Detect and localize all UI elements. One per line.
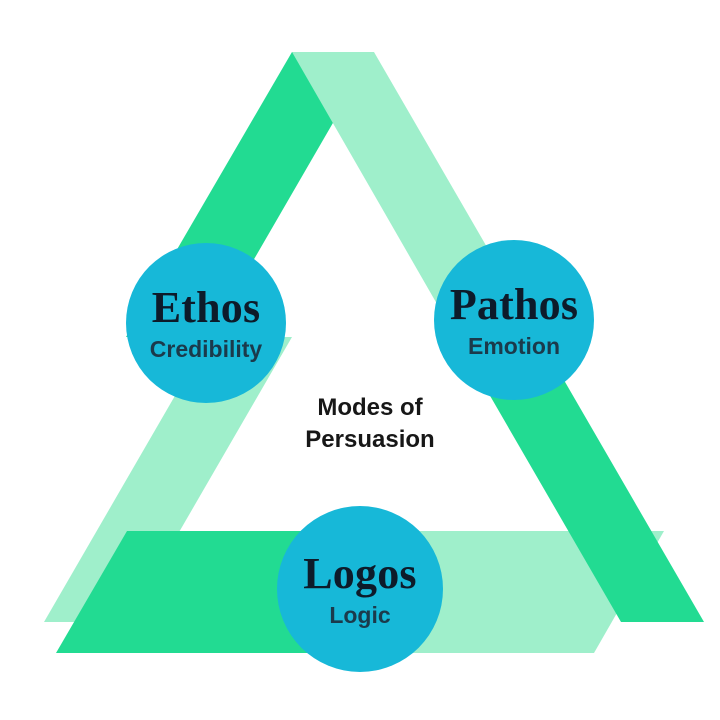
center-label: Modes of Persuasion xyxy=(250,392,490,455)
node-logos[interactable]: Logos Logic xyxy=(277,506,443,672)
node-ethos-title: Ethos xyxy=(152,285,261,331)
center-label-line-1: Modes of xyxy=(250,392,490,424)
center-label-line-2: Persuasion xyxy=(250,424,490,456)
node-ethos-subtitle: Credibility xyxy=(150,337,262,361)
node-ethos[interactable]: Ethos Credibility xyxy=(126,243,286,403)
node-pathos-title: Pathos xyxy=(450,282,578,328)
node-logos-subtitle: Logic xyxy=(329,603,390,627)
node-pathos[interactable]: Pathos Emotion xyxy=(434,240,594,400)
rhetorical-triangle-diagram: Ethos Credibility Pathos Emotion Logos L… xyxy=(0,0,720,720)
node-logos-title: Logos xyxy=(303,551,416,597)
node-pathos-subtitle: Emotion xyxy=(468,334,560,358)
